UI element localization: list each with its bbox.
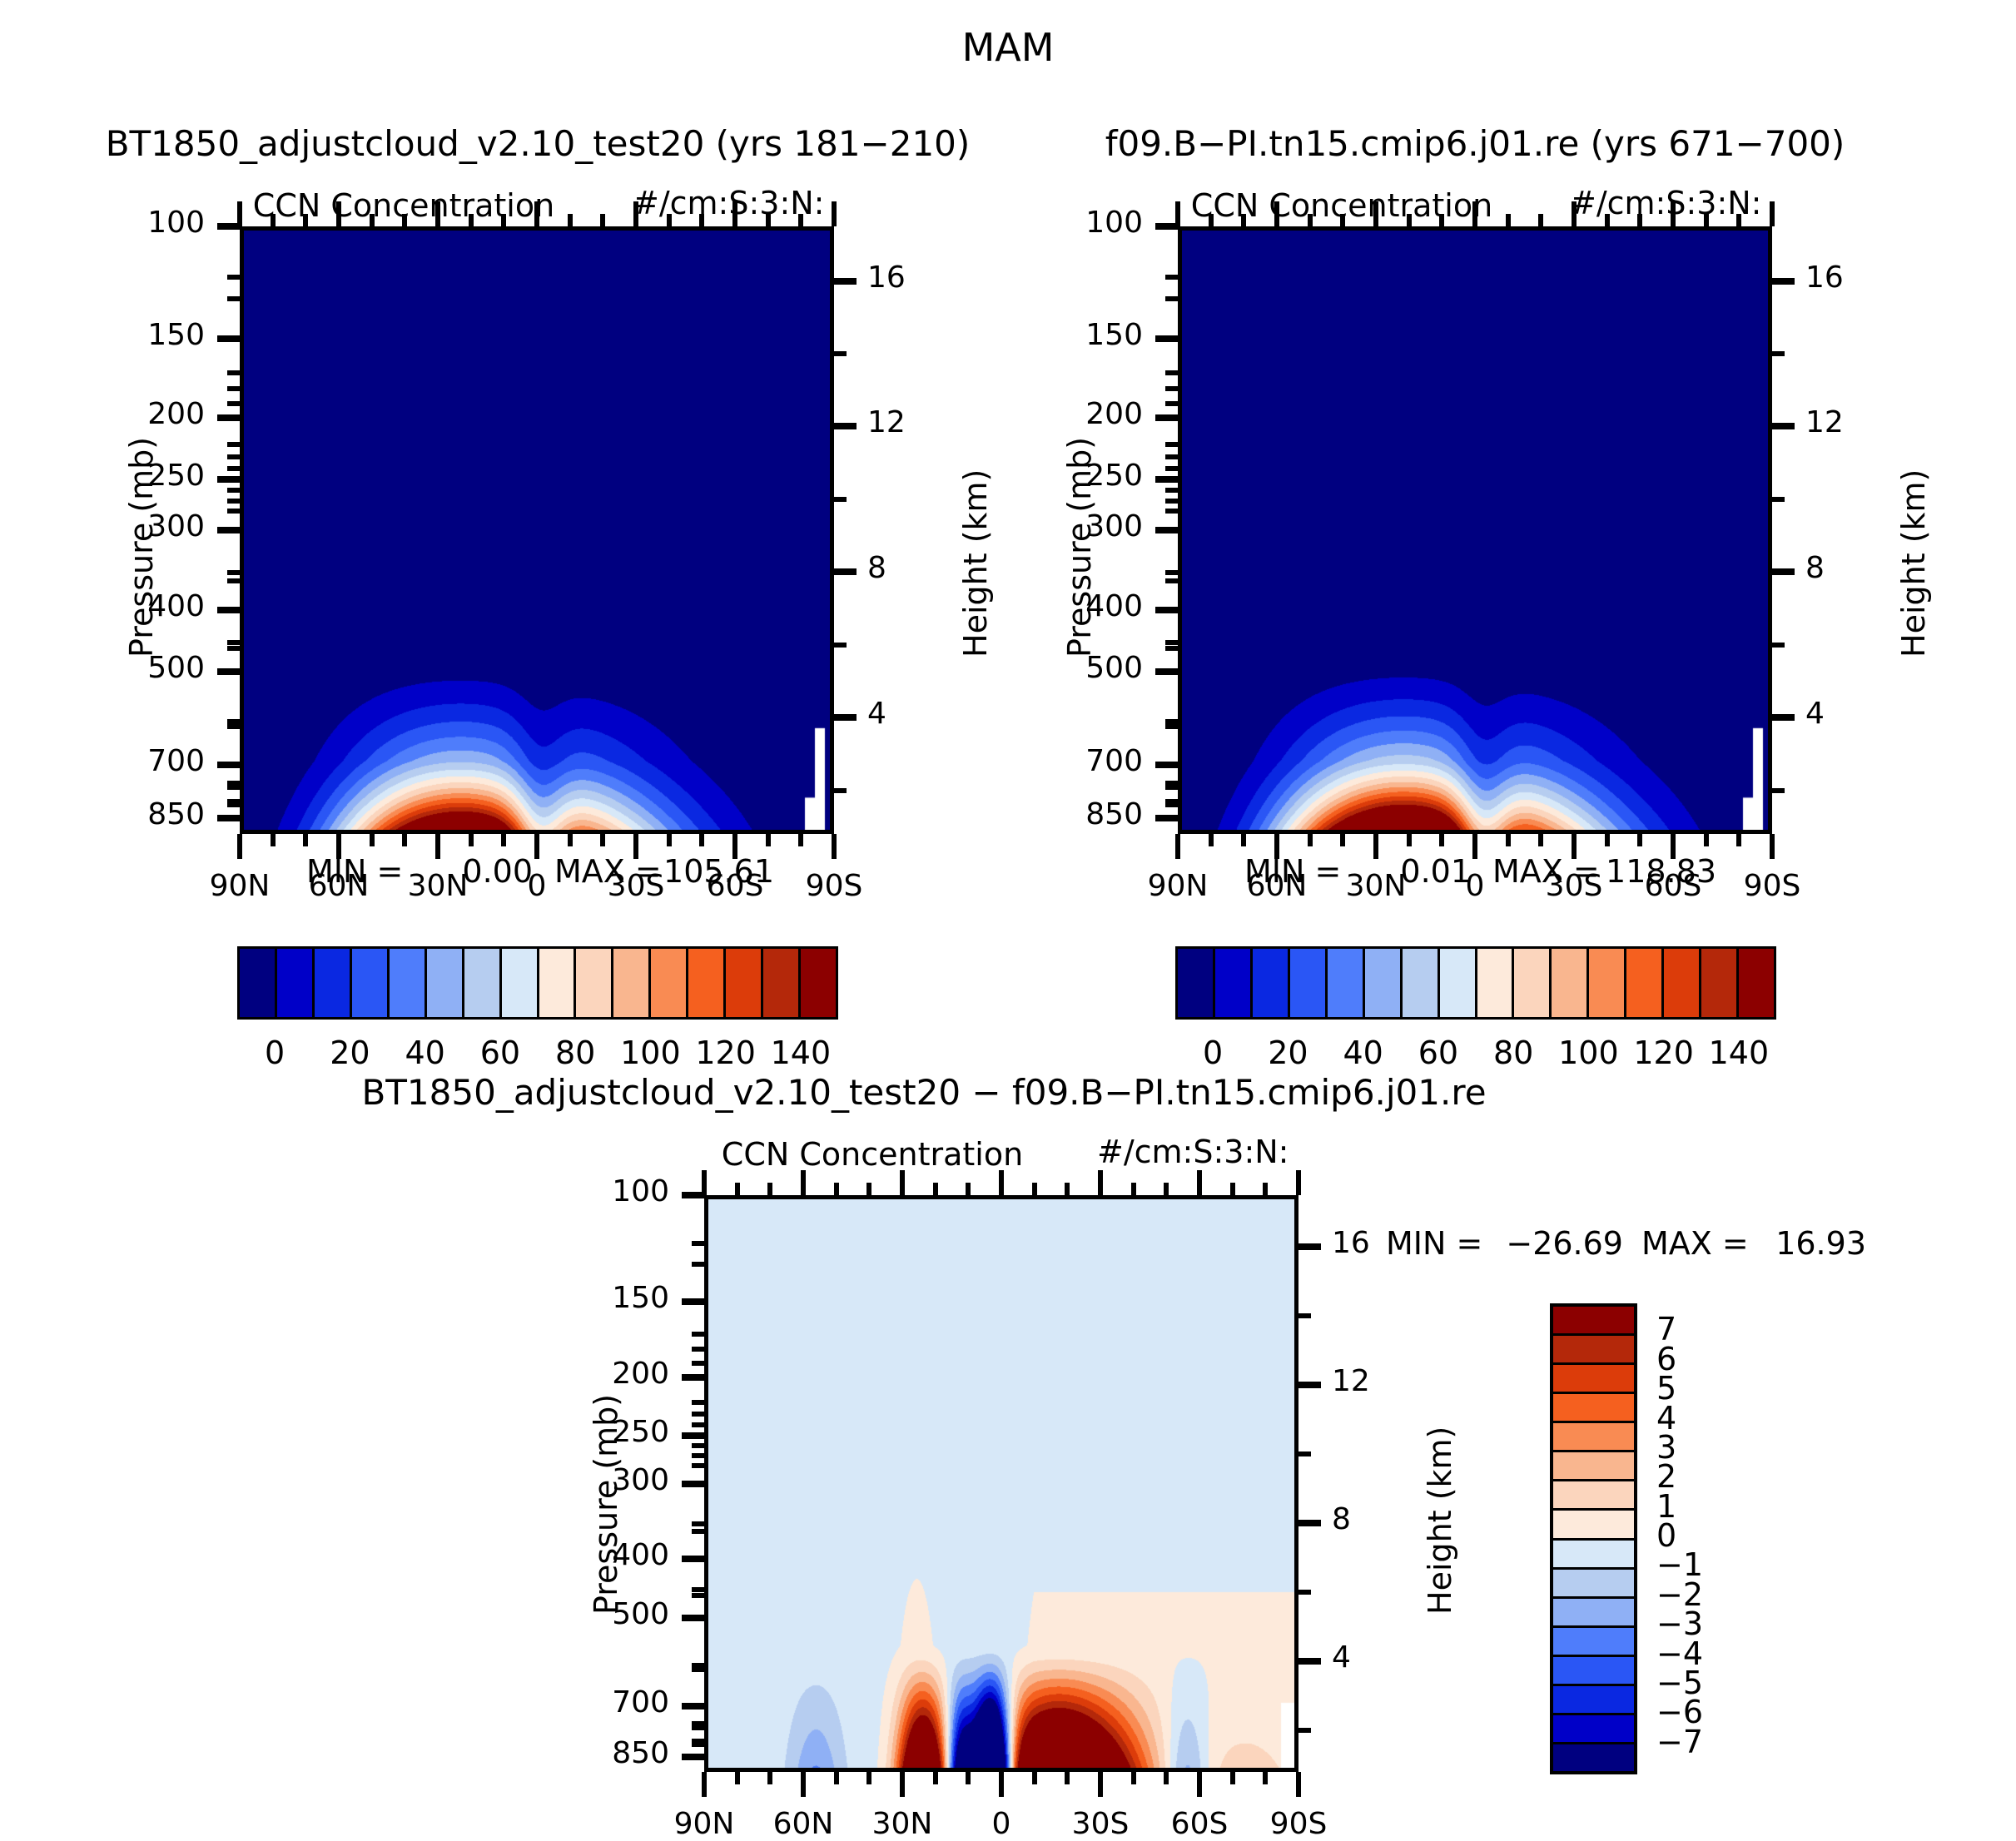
colorbar-cell xyxy=(1553,1599,1634,1628)
colorbar-cell xyxy=(240,949,277,1017)
left-xtick-minor xyxy=(766,834,771,846)
left-xtick-label: 30S xyxy=(608,869,665,903)
colorbar-tick-label: 60 xyxy=(480,1035,520,1071)
left-xtick-top-major xyxy=(534,201,539,226)
right-y2tick-label: 4 xyxy=(1805,697,1825,731)
colorbar-tick-label: 140 xyxy=(1709,1035,1770,1071)
left-xtick-label: 30N xyxy=(408,869,469,903)
right-xtick-label: 30N xyxy=(1346,869,1407,903)
diff-ytick-label: 400 xyxy=(612,1538,669,1572)
diff-max-value: 16.93 xyxy=(1775,1225,1866,1262)
right-ytick-label: 500 xyxy=(1085,651,1143,685)
colorbar-cell xyxy=(1553,1336,1634,1365)
left-xtick-label: 60N xyxy=(309,869,370,903)
left-ytick-major xyxy=(217,335,240,342)
colorbar-cell xyxy=(651,949,688,1017)
left-xtick-major xyxy=(237,834,242,859)
left-y2tick-minor xyxy=(834,351,847,356)
diff-xtick-major xyxy=(1098,1772,1103,1797)
diff-ytick-minor xyxy=(692,1262,704,1267)
left-xtick-major xyxy=(832,834,837,859)
colorbar-cell xyxy=(763,949,801,1017)
colorbar-cell xyxy=(1664,949,1701,1017)
colorbar-tick-label: 0 xyxy=(1203,1035,1223,1071)
diff-ytick-label: 700 xyxy=(612,1685,669,1719)
diff-xtick-minor xyxy=(966,1772,971,1784)
diff-ytick-major xyxy=(682,1192,704,1198)
right-ytick-minor xyxy=(1165,785,1178,790)
right-y2tick-major xyxy=(1772,714,1795,721)
right-units-label: #/cm:S:3:N: xyxy=(1570,185,1762,221)
diff-ytick-minor xyxy=(692,1347,704,1352)
left-xtick-top-minor xyxy=(699,214,704,226)
diff-y2tick-minor xyxy=(1298,1590,1311,1595)
diff-ytick-minor xyxy=(692,1400,704,1405)
diff-ytick-minor xyxy=(692,1742,704,1747)
left-ytick-major xyxy=(217,762,240,768)
colorbar-cell xyxy=(1328,949,1365,1017)
diff-ytick-label: 500 xyxy=(612,1597,669,1631)
right-panel-title: f09.B−PI.tn15.cmip6.j01.re (yrs 671−700) xyxy=(1105,123,1845,164)
left-ytick-minor xyxy=(227,442,240,447)
colorbar-tick-label: 120 xyxy=(1633,1035,1694,1071)
diff-xtick-top-minor xyxy=(767,1183,772,1195)
colorbar-cell xyxy=(688,949,726,1017)
colorbar-cell xyxy=(502,949,539,1017)
right-ytick-minor xyxy=(1165,509,1178,514)
right-y2tick-minor xyxy=(1772,643,1785,648)
diff-xtick-minor xyxy=(1263,1772,1268,1784)
left-y2tick-label: 4 xyxy=(867,697,886,731)
colorbar-cell xyxy=(539,949,577,1017)
right-xtick-minor xyxy=(1605,834,1610,846)
right-xtick-minor xyxy=(1637,834,1642,846)
diff-xtick-label: 60S xyxy=(1171,1807,1229,1841)
right-ytick-minor xyxy=(1165,646,1178,651)
diff-ytick-major xyxy=(682,1703,704,1709)
right-height-axis-label: Height (km) xyxy=(1895,469,1932,657)
diff-ytick-minor xyxy=(692,1725,704,1730)
left-xtick-minor xyxy=(667,834,672,846)
colorbar-tick-label: 140 xyxy=(771,1035,832,1071)
left-xtick-top-major xyxy=(435,201,440,226)
diff-xtick-top-major xyxy=(801,1170,806,1195)
colorbar-cell xyxy=(1553,1365,1634,1394)
left-xtick-minor xyxy=(271,834,276,846)
diff-xtick-top-minor xyxy=(1263,1183,1268,1195)
right-xtick-top-minor xyxy=(1704,214,1709,226)
right-ytick-minor xyxy=(1165,454,1178,459)
colorbar-cell xyxy=(1178,949,1215,1017)
left-xtick-major xyxy=(336,834,341,859)
right-colorbar xyxy=(1175,946,1776,1020)
colorbar-cell xyxy=(1553,1423,1634,1452)
right-xtick-top-major xyxy=(1472,201,1477,226)
left-ytick-major xyxy=(217,223,240,230)
diff-y2tick-major xyxy=(1298,1658,1321,1665)
left-xtick-minor xyxy=(798,834,803,846)
diff-ytick-label: 250 xyxy=(612,1415,669,1449)
colorbar-cell xyxy=(1553,1686,1634,1715)
left-units-label: #/cm:S:3:N: xyxy=(633,185,825,221)
diff-xtick-top-minor xyxy=(1032,1183,1037,1195)
diff-xtick-major xyxy=(702,1772,707,1797)
colorbar-cell xyxy=(390,949,427,1017)
left-y2tick-minor xyxy=(834,497,847,502)
diff-xtick-label: 90S xyxy=(1270,1807,1328,1841)
right-ytick-minor xyxy=(1165,724,1178,729)
right-xtick-major xyxy=(1770,834,1775,859)
diff-ytick-major xyxy=(682,1615,704,1621)
diff-y2tick-label: 4 xyxy=(1332,1640,1351,1675)
diff-xtick-top-major xyxy=(1197,1170,1202,1195)
colorbar-tick-label: 40 xyxy=(405,1035,444,1071)
diff-xtick-label: 90N xyxy=(674,1807,735,1841)
left-xtick-label: 60S xyxy=(707,869,764,903)
left-y2tick-major xyxy=(834,714,857,721)
diff-xtick-minor xyxy=(1032,1772,1037,1784)
left-xtick-minor xyxy=(568,834,573,846)
right-ytick-minor xyxy=(1165,386,1178,391)
right-xtick-top-major xyxy=(1274,201,1279,226)
left-xtick-top-minor xyxy=(469,214,474,226)
right-ytick-major xyxy=(1155,762,1178,768)
left-xtick-minor xyxy=(370,834,375,846)
left-xtick-major xyxy=(633,834,638,859)
left-xtick-top-minor xyxy=(798,214,803,226)
diff-y2tick-label: 16 xyxy=(1332,1226,1370,1260)
right-ytick-label: 250 xyxy=(1085,459,1143,493)
left-ytick-major xyxy=(217,476,240,483)
left-ytick-minor xyxy=(227,646,240,651)
right-ytick-label: 100 xyxy=(1085,206,1143,240)
diff-xtick-minor xyxy=(1230,1772,1235,1784)
diff-ytick-minor xyxy=(692,1361,704,1366)
left-xtick-minor xyxy=(699,834,704,846)
diff-xtick-minor xyxy=(834,1772,839,1784)
left-ytick-label: 700 xyxy=(147,744,205,778)
right-ytick-minor xyxy=(1165,640,1178,645)
colorbar-tick-label: −7 xyxy=(1656,1724,1703,1760)
right-xtick-minor xyxy=(1209,834,1214,846)
right-y2tick-label: 16 xyxy=(1805,261,1844,295)
colorbar-cell xyxy=(1440,949,1477,1017)
diff-xtick-top-minor xyxy=(1065,1183,1070,1195)
right-ytick-major xyxy=(1155,815,1178,821)
right-ytick-label: 300 xyxy=(1085,509,1143,543)
diff-ytick-minor xyxy=(692,1412,704,1417)
right-ytick-minor xyxy=(1165,570,1178,575)
right-ytick-label: 400 xyxy=(1085,589,1143,623)
colorbar-cell xyxy=(1552,949,1589,1017)
right-xtick-top-major xyxy=(1671,201,1676,226)
left-xtick-label: 0 xyxy=(528,869,547,903)
colorbar-tick-label: 60 xyxy=(1418,1035,1458,1071)
right-xtick-label: 90S xyxy=(1744,869,1801,903)
colorbar-cell xyxy=(1477,949,1515,1017)
left-ytick-label: 100 xyxy=(147,206,205,240)
right-ytick-minor xyxy=(1165,499,1178,504)
left-ytick-major xyxy=(217,815,240,821)
diff-ytick-minor xyxy=(692,1453,704,1458)
diff-contour-canvas xyxy=(708,1199,1294,1768)
diff-xtick-label: 30N xyxy=(872,1807,933,1841)
colorbar-cell xyxy=(427,949,464,1017)
right-xtick-minor xyxy=(1704,834,1709,846)
right-ytick-label: 200 xyxy=(1085,397,1143,431)
right-xtick-top-minor xyxy=(1407,214,1412,226)
right-contour-canvas xyxy=(1182,231,1768,830)
diff-y2tick-major xyxy=(1298,1243,1321,1250)
right-xtick-top-minor xyxy=(1506,214,1511,226)
right-plot-area xyxy=(1178,226,1772,834)
diff-variable-label: CCN Concentration xyxy=(722,1136,1023,1173)
right-y2tick-major xyxy=(1772,568,1795,575)
colorbar-cell xyxy=(1553,1307,1634,1336)
right-xtick-label: 30S xyxy=(1546,869,1603,903)
diff-xtick-top-minor xyxy=(735,1183,740,1195)
colorbar-tick-label: 80 xyxy=(1493,1035,1533,1071)
right-ytick-minor xyxy=(1165,442,1178,447)
left-xtick-top-minor xyxy=(271,214,276,226)
right-xtick-minor xyxy=(1506,834,1511,846)
diff-y2tick-label: 8 xyxy=(1332,1502,1351,1536)
left-xtick-top-minor xyxy=(600,214,605,226)
diff-xtick-top-major xyxy=(1098,1170,1103,1195)
figure-root: MAM BT1850_adjustcloud_v2.10_test20 (yrs… xyxy=(0,0,2016,1834)
diff-y2tick-label: 12 xyxy=(1332,1364,1370,1398)
right-xtick-top-major xyxy=(1572,201,1577,226)
colorbar-tick-label: 100 xyxy=(1558,1035,1619,1071)
diff-xtick-top-minor xyxy=(1164,1183,1169,1195)
diff-xtick-top-major xyxy=(1296,1170,1301,1195)
diff-y2tick-major xyxy=(1298,1520,1321,1526)
colorbar-cell xyxy=(1553,1481,1634,1511)
right-ytick-major xyxy=(1155,476,1178,483)
left-xtick-minor xyxy=(469,834,474,846)
colorbar-tick-label: 80 xyxy=(555,1035,595,1071)
right-ytick-minor xyxy=(1165,488,1178,493)
right-xtick-top-minor xyxy=(1209,214,1214,226)
left-ytick-minor xyxy=(227,570,240,575)
right-xtick-major xyxy=(1472,834,1477,859)
diff-xtick-label: 60N xyxy=(773,1807,834,1841)
colorbar-cell xyxy=(1553,1541,1634,1570)
right-ytick-minor xyxy=(1165,466,1178,471)
right-xtick-top-minor xyxy=(1308,214,1313,226)
diff-ytick-minor xyxy=(692,1463,704,1468)
diff-y2tick-minor xyxy=(1298,1728,1311,1733)
colorbar-cell xyxy=(1215,949,1253,1017)
right-ytick-major xyxy=(1155,668,1178,675)
left-ytick-label: 400 xyxy=(147,589,205,623)
right-ytick-label: 150 xyxy=(1085,318,1143,352)
left-ytick-minor xyxy=(227,370,240,375)
diff-xtick-major xyxy=(999,1772,1004,1797)
diff-min-label: MIN = xyxy=(1386,1225,1482,1262)
diff-ytick-major xyxy=(682,1481,704,1487)
right-ytick-minor xyxy=(1165,578,1178,583)
left-ytick-minor xyxy=(227,275,240,280)
left-xtick-label: 90N xyxy=(210,869,271,903)
colorbar-tick-label: 100 xyxy=(620,1035,681,1071)
diff-ytick-label: 150 xyxy=(612,1281,669,1315)
left-ytick-minor xyxy=(227,386,240,391)
left-xtick-top-minor xyxy=(370,214,375,226)
colorbar-cell xyxy=(1553,1657,1634,1686)
colorbar-tick-label: 120 xyxy=(695,1035,756,1071)
diff-panel-title: BT1850_adjustcloud_v2.10_test20 − f09.B−… xyxy=(361,1072,1486,1113)
diff-y2tick-minor xyxy=(1298,1451,1311,1456)
diff-xtick-top-minor xyxy=(866,1183,871,1195)
right-y2tick-major xyxy=(1772,423,1795,429)
left-xtick-minor xyxy=(600,834,605,846)
colorbar-cell xyxy=(1553,1511,1634,1540)
diff-xtick-minor xyxy=(1065,1772,1070,1784)
right-xtick-major xyxy=(1175,834,1180,859)
colorbar-cell xyxy=(1739,949,1774,1017)
right-xtick-minor xyxy=(1736,834,1741,846)
diff-ytick-major xyxy=(682,1556,704,1562)
colorbar-cell xyxy=(1403,949,1440,1017)
left-y2tick-major xyxy=(834,423,857,429)
left-xtick-top-major xyxy=(832,201,837,226)
right-min-value: 0.01 xyxy=(1400,853,1471,890)
left-plot-area xyxy=(240,226,834,834)
left-ytick-minor xyxy=(227,466,240,471)
right-xtick-top-minor xyxy=(1736,214,1741,226)
colorbar-cell xyxy=(315,949,352,1017)
right-xtick-major xyxy=(1671,834,1676,859)
diff-xtick-label: 30S xyxy=(1072,1807,1130,1841)
diff-xtick-minor xyxy=(1164,1772,1169,1784)
left-ytick-minor xyxy=(227,785,240,790)
right-ytick-label: 700 xyxy=(1085,744,1143,778)
right-y2tick-minor xyxy=(1772,497,1785,502)
right-xtick-major xyxy=(1373,834,1378,859)
right-ytick-minor xyxy=(1165,401,1178,406)
colorbar-cell xyxy=(1553,1452,1634,1481)
right-y2tick-label: 12 xyxy=(1805,405,1844,439)
colorbar-cell xyxy=(613,949,651,1017)
right-xtick-minor xyxy=(1439,834,1444,846)
diff-xtick-label: 0 xyxy=(992,1807,1011,1841)
colorbar-cell xyxy=(1553,1394,1634,1423)
diff-plot-area xyxy=(704,1195,1298,1772)
right-ytick-minor xyxy=(1165,802,1178,807)
colorbar-cell xyxy=(352,949,390,1017)
figure-main-title: MAM xyxy=(962,25,1055,70)
diff-ytick-major xyxy=(682,1298,704,1305)
diff-xtick-major xyxy=(801,1772,806,1797)
colorbar-cell xyxy=(1253,949,1290,1017)
left-ytick-minor xyxy=(227,640,240,645)
left-ytick-label: 300 xyxy=(147,509,205,543)
diff-ytick-minor xyxy=(692,1587,704,1592)
right-xtick-minor xyxy=(1340,834,1345,846)
left-ytick-minor xyxy=(227,509,240,514)
right-xtick-top-minor xyxy=(1605,214,1610,226)
colorbar-cell xyxy=(1589,949,1626,1017)
diff-xtick-top-minor xyxy=(834,1183,839,1195)
diff-xtick-minor xyxy=(735,1772,740,1784)
left-ytick-label: 250 xyxy=(147,459,205,493)
left-y2tick-label: 16 xyxy=(867,261,906,295)
right-xtick-top-minor xyxy=(1439,214,1444,226)
diff-y2tick-minor xyxy=(1298,1313,1311,1318)
right-xtick-top-minor xyxy=(1637,214,1642,226)
diff-ytick-label: 300 xyxy=(612,1463,669,1497)
diff-colorbar xyxy=(1550,1303,1637,1774)
diff-xtick-major xyxy=(1296,1772,1301,1797)
colorbar-cell xyxy=(801,949,836,1017)
left-xtick-major xyxy=(732,834,737,859)
left-xtick-top-minor xyxy=(568,214,573,226)
left-xtick-major xyxy=(435,834,440,859)
right-ytick-major xyxy=(1155,223,1178,230)
diff-ytick-minor xyxy=(692,1593,704,1598)
left-y2tick-minor xyxy=(834,643,847,648)
left-xtick-top-minor xyxy=(766,214,771,226)
left-xtick-label: 90S xyxy=(806,869,863,903)
left-ytick-major xyxy=(217,527,240,533)
left-xtick-top-major xyxy=(237,201,242,226)
colorbar-tick-label: 40 xyxy=(1343,1035,1383,1071)
diff-ytick-major xyxy=(682,1432,704,1439)
diff-xtick-major xyxy=(900,1772,905,1797)
left-xtick-top-minor xyxy=(667,214,672,226)
diff-xtick-minor xyxy=(933,1772,938,1784)
diff-ytick-label: 200 xyxy=(612,1357,669,1391)
diff-height-axis-label: Height (km) xyxy=(1422,1427,1458,1615)
right-ytick-minor xyxy=(1165,296,1178,301)
right-xtick-label: 0 xyxy=(1466,869,1485,903)
right-xtick-label: 60S xyxy=(1645,869,1702,903)
left-height-axis-label: Height (km) xyxy=(957,469,994,657)
right-y2tick-minor xyxy=(1772,788,1785,793)
left-ytick-minor xyxy=(227,578,240,583)
diff-xtick-top-minor xyxy=(1131,1183,1136,1195)
diff-xtick-minor xyxy=(1131,1772,1136,1784)
left-ytick-label: 200 xyxy=(147,397,205,431)
diff-xtick-major xyxy=(1197,1772,1202,1797)
colorbar-cell xyxy=(1553,1628,1634,1657)
left-xtick-top-minor xyxy=(501,214,506,226)
left-y2tick-major xyxy=(834,278,857,285)
right-ytick-major xyxy=(1155,527,1178,533)
right-xtick-top-major xyxy=(1373,201,1378,226)
right-xtick-top-major xyxy=(1770,201,1775,226)
right-xtick-label: 90N xyxy=(1148,869,1209,903)
right-ytick-major xyxy=(1155,607,1178,613)
diff-xtick-top-minor xyxy=(966,1183,971,1195)
diff-ytick-minor xyxy=(692,1332,704,1337)
right-xtick-top-minor xyxy=(1241,214,1246,226)
right-y2tick-minor xyxy=(1772,351,1785,356)
diff-ytick-label: 100 xyxy=(612,1174,669,1208)
diff-max-label: MAX = xyxy=(1641,1225,1749,1262)
colorbar-cell xyxy=(464,949,502,1017)
left-colorbar xyxy=(237,946,838,1020)
left-xtick-minor xyxy=(303,834,308,846)
left-y2tick-label: 12 xyxy=(867,405,906,439)
diff-xtick-top-minor xyxy=(933,1183,938,1195)
right-y2tick-label: 8 xyxy=(1805,551,1825,585)
left-xtick-minor xyxy=(501,834,506,846)
diff-ytick-minor xyxy=(692,1443,704,1448)
left-ytick-minor xyxy=(227,802,240,807)
left-ytick-major xyxy=(217,668,240,675)
